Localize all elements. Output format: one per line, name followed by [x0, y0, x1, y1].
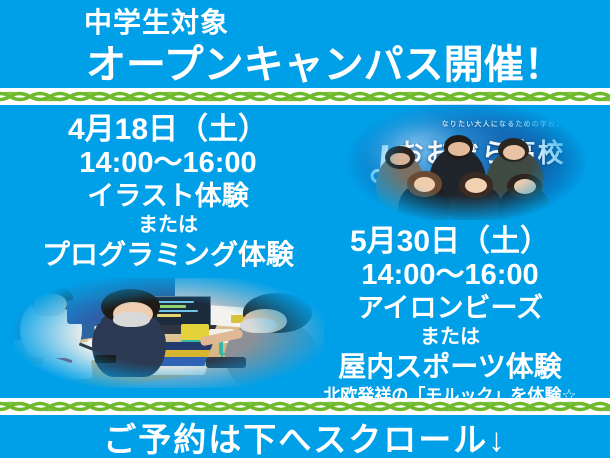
wristwatch	[95, 355, 117, 363]
session-2-conjunction: または	[290, 324, 610, 350]
rope-divider-top	[0, 88, 610, 105]
student-right-hand-item	[206, 357, 246, 368]
person-back-center-face	[448, 142, 470, 156]
session-1-date: 4月18日（土）	[0, 112, 336, 147]
banner-header: 中学生対象 オープンキャンパス開催！	[0, 0, 610, 88]
session-2-block: 5月30日（土） 14:00〜16:00 アイロンビーズ または 屋内スポーツ体…	[290, 224, 610, 407]
scroll-cta-text: ご予約は下へスクロール↓	[103, 413, 507, 458]
session-2-date: 5月30日（土）	[290, 224, 610, 259]
session-2-activity-primary: アイロンビーズ	[290, 292, 610, 324]
classroom-photo	[14, 278, 324, 388]
session-1-conjunction: または	[0, 212, 336, 238]
backdrop-tagline: なりたい大人になるための学校。	[442, 119, 565, 129]
footer-cta-bar: ご予約は下へスクロール↓	[0, 415, 610, 458]
header-title: オープンキャンパス開催！	[86, 42, 564, 88]
person-front-center-face	[465, 178, 487, 193]
student-right-mask	[240, 318, 277, 333]
rope-pattern-icon	[0, 88, 610, 105]
session-2-time: 14:00〜16:00	[290, 259, 610, 292]
group-photo: なりたい大人になるための学校。 おおぞら高校 学院	[344, 104, 588, 220]
session-2-activity-secondary: 屋内スポーツ体験	[290, 350, 610, 384]
session-1-block: 4月18日（土） 14:00〜16:00 イラスト体験 または プログラミング体…	[0, 112, 336, 272]
session-1-activity-secondary: プログラミング体験	[0, 238, 336, 272]
person-back-right-face	[503, 145, 525, 160]
header-subtitle: 中学生対象	[84, 6, 229, 40]
chair-back	[67, 300, 101, 324]
open-campus-banner: 中学生対象 オープンキャンパス開催！ なりたい大人になるための学校。 おおぞら高…	[0, 0, 610, 458]
session-1-time: 14:00〜16:00	[0, 147, 336, 180]
session-1-activity-primary: イラスト体験	[0, 180, 336, 212]
